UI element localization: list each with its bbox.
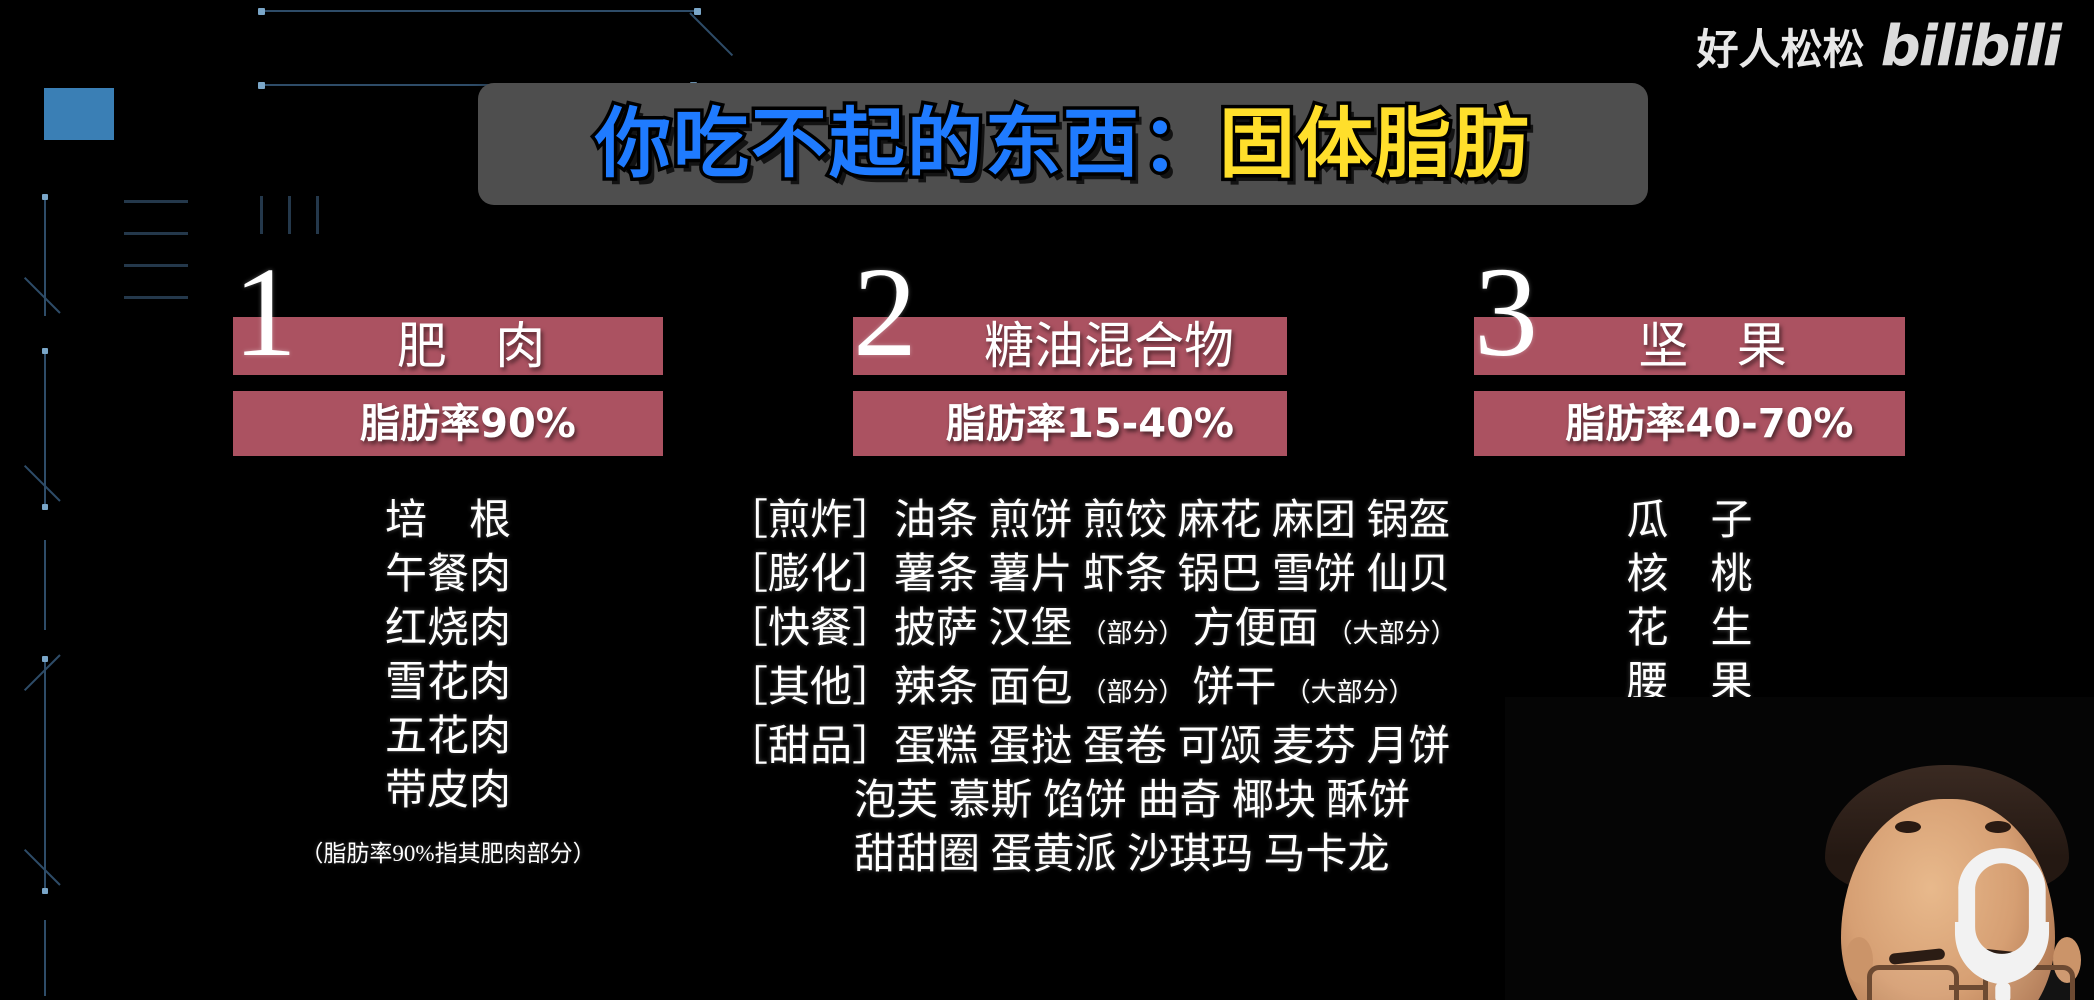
hud-rail-3 <box>44 540 46 630</box>
item-tag: ［膨化］ <box>726 548 894 602</box>
item-text: 核 桃 <box>1626 548 1752 602</box>
list-item: 带皮肉 <box>233 764 663 818</box>
item-text: 泡芙 慕斯 馅饼 曲奇 椰块 酥饼 <box>854 774 1411 828</box>
item-list-2: ［煎炸］油条 煎饼 煎饺 麻花 麻团 锅盔 ［膨化］薯条 薯片 虾条 锅巴 雪饼… <box>726 494 1446 882</box>
item-text: 培 根 <box>385 494 511 548</box>
bilibili-logo-icon: bilibili <box>1881 14 2060 79</box>
item-tag: ［甜品］ <box>726 720 894 774</box>
hud-rail-5 <box>44 920 46 996</box>
page-title: 你吃不起的东西：固体脂肪 <box>595 106 1531 182</box>
category-title-bar-1: 肥 肉 <box>233 317 663 375</box>
list-item: 瓜 子 <box>1474 494 1905 548</box>
item-text: 午餐肉 <box>385 548 511 602</box>
category-rate-bar-2: 脂肪率15-40% <box>853 391 1287 456</box>
item-text: 五花肉 <box>385 710 511 764</box>
category-name-2: 糖油混合物 <box>853 321 1287 371</box>
webcam-overlay[interactable] <box>1505 697 2094 1000</box>
hud-rail-diag-1 <box>24 277 61 314</box>
hud-rail-1 <box>44 196 46 316</box>
category-number-3: 3 <box>1474 248 1538 376</box>
item-qualifier: （部分） <box>1081 607 1185 661</box>
hud-tick-5 <box>124 232 188 235</box>
item-text-2: 饼干 <box>1193 661 1277 715</box>
category-name-1: 肥 肉 <box>233 321 663 371</box>
item-text: 披萨 汉堡 <box>894 602 1073 656</box>
category-rate-2: 脂肪率15-40% <box>853 404 1287 444</box>
title-banner: 你吃不起的东西：固体脂肪 <box>478 83 1648 205</box>
list-item: ［膨化］薯条 薯片 虾条 锅巴 雪饼 仙贝 <box>726 548 1446 602</box>
eye-left <box>1895 821 1921 833</box>
item-text: 甜甜圈 蛋黄派 沙琪玛 马卡龙 <box>854 828 1390 882</box>
footnote-wrap: （脂肪率90%指其肥肉部分） <box>233 834 663 868</box>
channel-name: 好人松松 <box>1697 16 1865 77</box>
list-item: 培 根 <box>233 494 663 548</box>
item-text: 油条 煎饼 煎饺 麻花 麻团 锅盔 <box>894 494 1451 548</box>
item-tag: ［快餐］ <box>726 602 894 656</box>
category-rate-bar-1: 脂肪率90% <box>233 391 663 456</box>
hud-dot-9 <box>42 888 48 894</box>
hud-tick-2 <box>288 196 291 234</box>
item-text: 瓜 子 <box>1626 494 1752 548</box>
item-qualifier-2: （大部分） <box>1327 607 1457 661</box>
hud-tick-3 <box>316 196 319 234</box>
title-main: 你吃不起的东西： <box>595 99 1219 188</box>
hud-tick-1 <box>260 196 263 234</box>
item-text: 蛋糕 蛋挞 蛋卷 可颂 麦芬 月饼 <box>894 720 1451 774</box>
list-item: ［快餐］披萨 汉堡（部分）方便面（大部分） <box>726 602 1446 661</box>
list-item: 核 桃 <box>1474 548 1905 602</box>
list-item: ［其他］辣条 面包（部分）饼干（大部分） <box>726 661 1446 720</box>
hud-dot-1 <box>258 8 265 15</box>
hud-rail-diag-2 <box>24 465 61 502</box>
item-qualifier: （部分） <box>1081 666 1185 720</box>
hud-tick-6 <box>124 264 188 267</box>
item-tag: ［其他］ <box>726 661 894 715</box>
list-item: 花 生 <box>1474 602 1905 656</box>
hud-chip-blue <box>44 88 114 140</box>
category-number-1: 1 <box>233 248 297 376</box>
category-number-2: 2 <box>853 248 917 376</box>
hud-dot-2 <box>694 8 701 15</box>
category-rate-3: 脂肪率40-70% <box>1474 404 1905 444</box>
list-item: ［甜品］蛋糕 蛋挞 蛋卷 可颂 麦芬 月饼 <box>726 720 1446 774</box>
hud-rail-2 <box>44 352 46 506</box>
list-item: 泡芙 慕斯 馅饼 曲奇 椰块 酥饼 <box>726 774 1446 828</box>
item-tag: ［煎炸］ <box>726 494 894 548</box>
hud-line-top-1 <box>258 10 698 12</box>
list-item: 红烧肉 <box>233 602 663 656</box>
hud-dot-3 <box>258 82 265 89</box>
item-text: 红烧肉 <box>385 602 511 656</box>
item-text: 辣条 面包 <box>894 661 1073 715</box>
hud-rail-4 <box>44 660 46 890</box>
item-text: 薯条 薯片 虾条 锅巴 雪饼 仙贝 <box>894 548 1451 602</box>
hud-dot-5 <box>42 194 48 200</box>
hud-dot-8 <box>42 656 48 662</box>
eye-right <box>1985 821 2011 833</box>
title-highlight: 固体脂肪 <box>1219 99 1531 188</box>
category-name-3: 坚 果 <box>1474 321 1905 371</box>
item-text-2: 方便面 <box>1193 602 1319 656</box>
item-qualifier-2: （大部分） <box>1285 666 1415 720</box>
hud-dot-6 <box>42 348 48 354</box>
list-item: 五花肉 <box>233 710 663 764</box>
item-text: 带皮肉 <box>385 764 511 818</box>
hud-line-top-diag <box>689 12 733 56</box>
list-item: 午餐肉 <box>233 548 663 602</box>
item-list-1: 培 根 午餐肉 红烧肉 雪花肉 五花肉 带皮肉 （脂肪率90%指其肥肉部分） <box>233 494 663 868</box>
microphone-icon <box>1918 838 2086 1000</box>
hud-tick-7 <box>124 296 188 299</box>
list-item: ［煎炸］油条 煎饼 煎饺 麻花 麻团 锅盔 <box>726 494 1446 548</box>
category-rate-bar-3: 脂肪率40-70% <box>1474 391 1905 456</box>
item-text: 花 生 <box>1626 602 1752 656</box>
list-item: 雪花肉 <box>233 656 663 710</box>
list-item: 甜甜圈 蛋黄派 沙琪玛 马卡龙 <box>726 828 1446 882</box>
category-footnote-1: （脂肪率90%指其肥肉部分） <box>300 841 595 866</box>
branding: 好人松松 bilibili <box>1697 14 2060 79</box>
hud-tick-4 <box>124 200 188 203</box>
category-rate-1: 脂肪率90% <box>233 404 663 444</box>
hud-rail-diag-4 <box>24 849 61 886</box>
category-title-bar-3: 坚 果 <box>1474 317 1905 375</box>
category-title-bar-2: 糖油混合物 <box>853 317 1287 375</box>
hud-dot-7 <box>42 504 48 510</box>
hud-rail-diag-3 <box>24 654 61 691</box>
item-text: 雪花肉 <box>385 656 511 710</box>
